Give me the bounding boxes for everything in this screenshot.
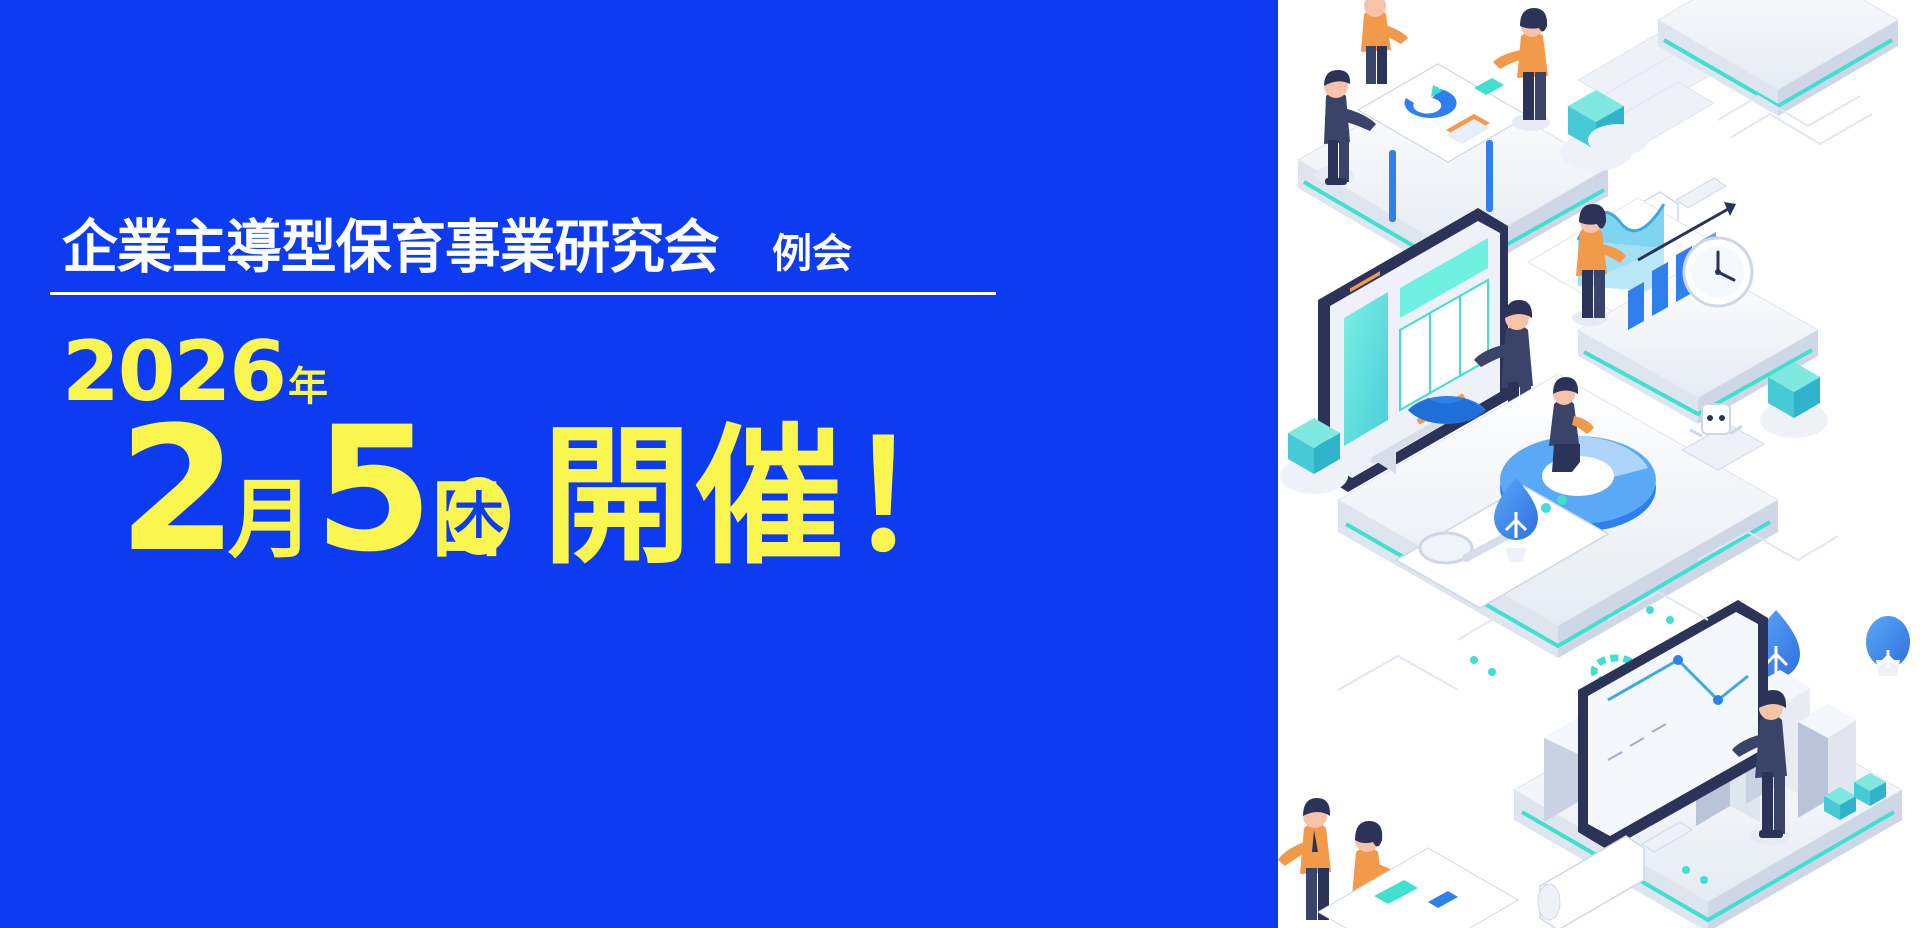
title-divider — [50, 292, 996, 295]
month-number: 2 — [118, 404, 232, 576]
call-to-action-text: 開催！ — [542, 423, 998, 573]
weekday-badge: 木 — [448, 477, 510, 555]
day-unit-group: 日 木 — [427, 477, 509, 617]
page-subtitle: 例会 — [772, 234, 852, 274]
title-row: 企業主導型保育事業研究会 例会 — [62, 218, 852, 276]
cyan-cube-pedestal-d — [1588, 124, 1648, 156]
page-title: 企業主導型保育事業研究会 — [62, 218, 719, 276]
month-unit-label: 月 — [228, 477, 314, 563]
isometric-illustration — [1278, 0, 1920, 928]
clock-icon — [1684, 238, 1752, 306]
isometric-business-scene-svg — [1278, 0, 1920, 928]
date-row: 2 月 5 日 木 開催！ — [118, 404, 998, 617]
event-banner: 企業主導型保育事業研究会 例会 2026 年 2 月 5 日 木 開催！ — [0, 0, 1920, 928]
day-number: 5 — [314, 404, 428, 576]
blue-content-panel: 企業主導型保育事業研究会 例会 2026 年 2 月 5 日 木 開催！ — [0, 0, 1278, 928]
